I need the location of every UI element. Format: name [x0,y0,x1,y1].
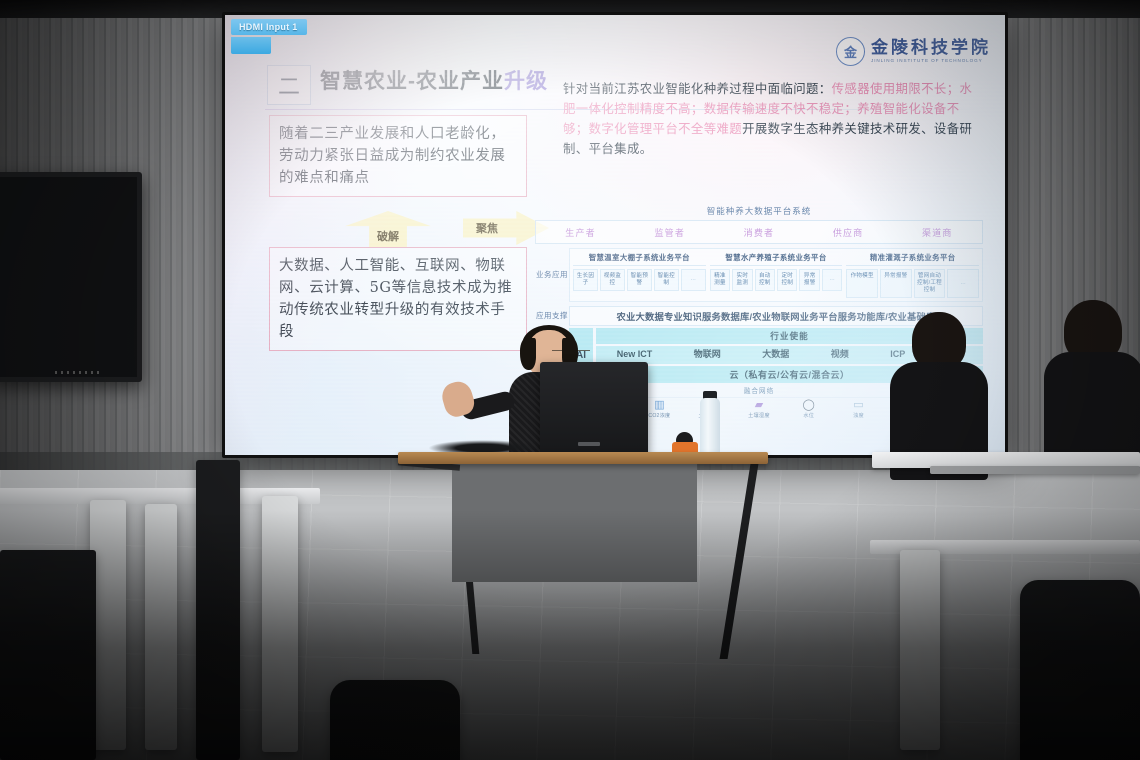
subsystem-greenhouse: 智慧温室大棚子系统业务平台 生长因子 视频监控 智能预警 智能控制 … [573,252,706,298]
laptop [540,362,648,454]
role-item: 监管者 [654,226,685,239]
chip: 视频监控 [600,269,625,291]
chip: 异常报警 [880,269,912,298]
water-level-icon: ◯ [803,400,815,411]
chip: 实时监测 [732,269,752,291]
sensor-label: CO2浓度 [648,412,670,419]
text-box-pain-points: 随着二三产业发展和人口老龄化，劳动力紧张日益成为制约农业发展的难点和痛点 [269,115,527,197]
slide-section-number: 二 [267,65,311,105]
tech-item: New ICT [617,350,653,360]
gas-sensor-icon: ▥ [654,400,664,411]
chip: 作物模型 [846,269,878,298]
role-item: 供应商 [833,226,864,239]
chip: 智能控制 [654,269,679,291]
chip: 管网自动控制/工程控制 [914,269,946,298]
hdmi-input-badge: HDMI Input 1 [231,19,307,35]
subsystem-chips: 精准测量 实时监测 自动控制 定时控制 异常报警 … [710,269,843,291]
tech-item: 视频 [831,350,849,360]
audience-member-mid-right [900,312,990,472]
subsystem-chips: 作物模型 异常报警 管网自动控制/工程控制 … [846,269,979,298]
arrow-up-breakthrough: 破解 [345,211,431,247]
logo-name-cn: 金陵科技学院 [871,39,991,56]
slide-title-main: 智慧农业-农业产业 [320,70,504,93]
sensor-item: ◯水位 [790,400,828,419]
chip: 精准测量 [710,269,730,291]
sensor-item: ▭浊度 [839,400,877,419]
presenter-desk [398,452,768,464]
layer-label-business: 业务应用 [535,248,569,302]
screenshot-root: HDMI Input 1 二 智慧农业-农业产业升级 金 金陵科技学院 JINL… [0,0,1140,760]
subsystem-group: 智慧温室大棚子系统业务平台 生长因子 视频监控 智能预警 智能控制 … 智慧水产… [569,248,983,302]
logo-name-en: JINLING INSTITUTE OF TECHNOLOGY [871,59,991,64]
side-display [0,172,142,382]
slide-title: 智慧农业-农业产业升级 [320,65,548,95]
sensor-item: ▰土壤湿度 [740,400,778,419]
logo-mark-icon: 金 [836,37,865,66]
chip-ellipsis: … [947,269,979,298]
display-bezel-dots [55,371,101,374]
slide-title-highlight: 升级 [504,70,548,93]
tech-item: 物联网 [694,350,721,360]
water-bottle [700,398,720,460]
text-box-tech-means: 大数据、人工智能、互联网、物联网、云计算、5G等信息技术成为推动传统农业转型升级… [269,247,527,351]
tech-item: 大数据 [762,350,789,360]
subsystem-header: 智慧温室大棚子系统业务平台 [573,252,706,266]
sensor-label: 浊度 [853,412,864,419]
arrow-up-label: 破解 [377,228,399,247]
hdmi-badge-tail [231,37,271,54]
chip: 生长因子 [573,269,598,291]
arrow-right-label: 聚焦 [463,220,498,236]
diagram-business-layer: 业务应用 智慧温室大棚子系统业务平台 生长因子 视频监控 智能预警 智能控制 … [535,248,983,302]
turbidity-icon: ▭ [853,400,863,411]
chip-ellipsis: … [681,269,706,291]
subsystem-irrigation: 精准灌溉子系统业务平台 作物模型 异常报警 管网自动控制/工程控制 … [846,252,979,298]
role-item: 生产者 [565,226,596,239]
chip-ellipsis: … [822,269,842,291]
sensor-label: 土壤湿度 [748,412,770,419]
subsystem-aquaculture: 智慧水产养殖子系统业务平台 精准测量 实时监测 自动控制 定时控制 异常报警 … [710,252,843,298]
institution-logo: 金 金陵科技学院 JINLING INSTITUTE OF TECHNOLOGY [836,37,991,66]
audience-member-back-right [1050,300,1140,470]
diagram-title: 智能种养大数据平台系统 [535,205,983,217]
paragraph-lead: 针对当前江苏农业智能化种养过程中面临问题： [563,81,832,96]
chip: 定时控制 [777,269,797,291]
chip: 智能预警 [627,269,652,291]
laptop-trackpad [578,442,600,446]
slide-paragraph: 针对当前江苏农业智能化种养过程中面临问题：传感器使用期限不长；水肥一体化控制精度… [563,79,978,159]
soil-moisture-icon: ▰ [755,400,763,411]
chip: 异常报警 [799,269,819,291]
subsystem-chips: 生长因子 视频监控 智能预警 智能控制 … [573,269,706,291]
audience-desk-right-2 [930,466,1140,474]
presenter-hair-left [520,338,536,370]
sensor-label: 水位 [803,412,814,419]
logo-text: 金陵科技学院 JINLING INSTITUTE OF TECHNOLOGY [871,39,991,64]
layer-label-support: 应用支撑 [535,306,569,326]
desk-modesty-panel [452,464,697,582]
role-item: 渠道商 [922,226,953,239]
chip: 自动控制 [755,269,775,291]
role-item: 消费者 [744,226,775,239]
subsystem-header: 智慧水产养殖子系统业务平台 [710,252,843,266]
diagram-roles-row: 生产者 监管者 消费者 供应商 渠道商 [535,220,983,244]
subsystem-header: 精准灌溉子系统业务平台 [846,252,979,266]
